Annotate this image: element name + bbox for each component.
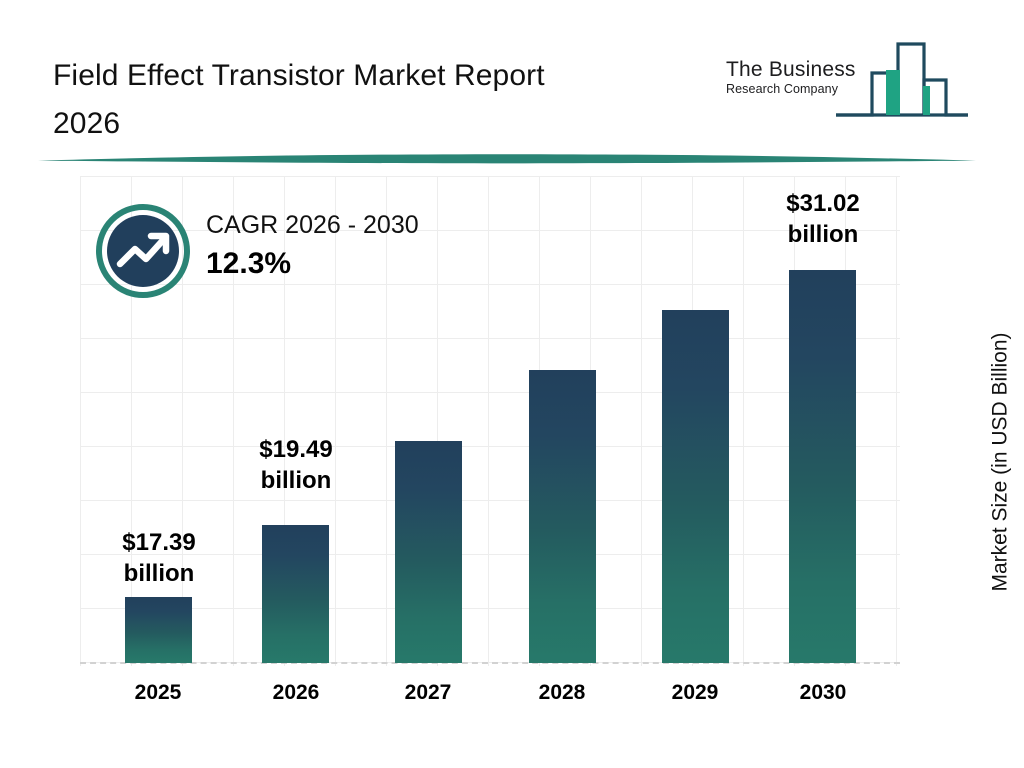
x-tick-2027: 2027 (373, 681, 483, 705)
bar-2028[interactable] (529, 370, 596, 663)
bar-2026[interactable] (262, 525, 329, 663)
bar-2029[interactable] (662, 310, 729, 663)
x-tick-2029: 2029 (640, 681, 750, 705)
chart-bars (0, 0, 1024, 768)
trending-up-arrow-icon (96, 204, 190, 298)
cagr-text-block: CAGR 2026 - 2030 12.3% (206, 209, 496, 286)
x-tick-2030: 2030 (768, 681, 878, 705)
cagr-value-label: 12.3% (206, 242, 496, 286)
cagr-period-label: CAGR 2026 - 2030 (206, 209, 496, 242)
bar-2027[interactable] (395, 441, 462, 663)
y-axis-title: Market Size (in USD Billion) (984, 276, 1018, 648)
bar-value-label-2025: $17.39 billion (93, 527, 225, 589)
bar-value-label-2026: $19.49 billion (228, 434, 364, 496)
bar-2030[interactable] (789, 270, 856, 663)
y-axis-title-text: Market Size (in USD Billion) (989, 332, 1013, 591)
chart-page: Field Effect Transistor Market Report 20… (0, 0, 1024, 768)
x-tick-2025: 2025 (103, 681, 213, 705)
bar-value-label-2030: $31.02 billion (755, 188, 891, 250)
x-tick-2026: 2026 (241, 681, 351, 705)
cagr-callout: CAGR 2026 - 2030 12.3% (96, 204, 496, 306)
x-tick-2028: 2028 (507, 681, 617, 705)
bar-2025[interactable] (125, 597, 192, 663)
